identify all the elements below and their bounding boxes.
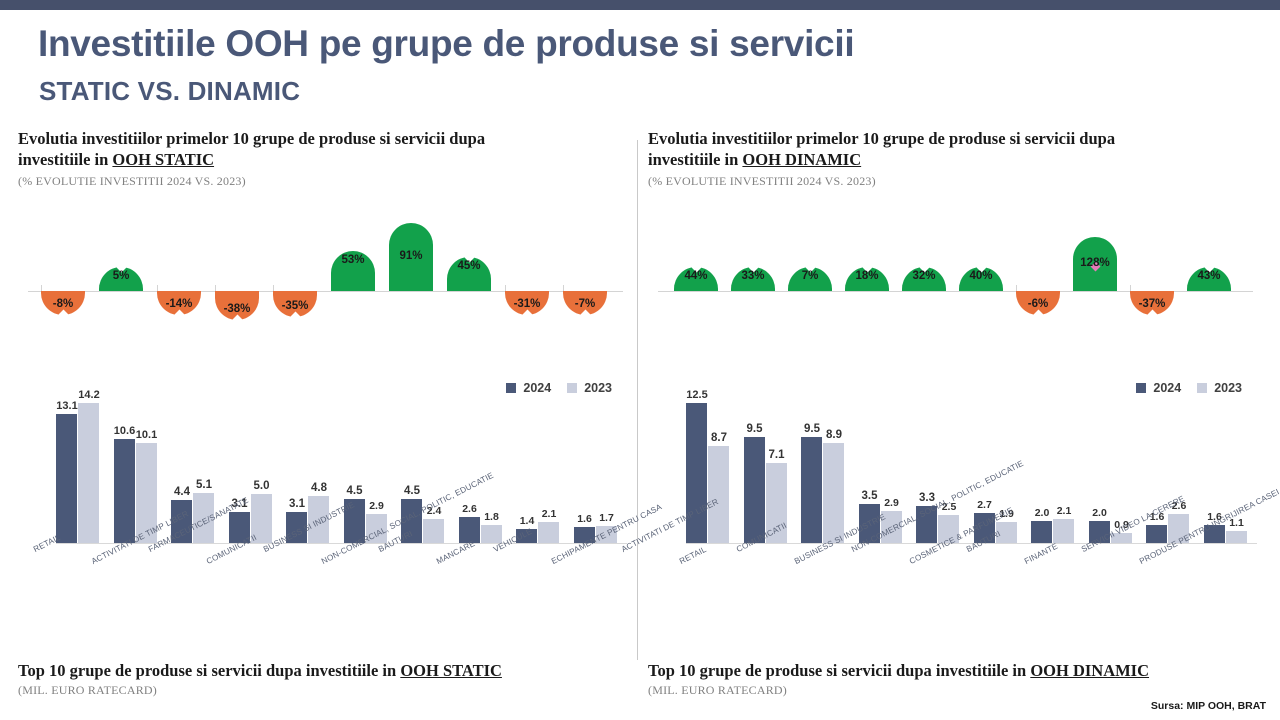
- legend-swatch-2023: [567, 383, 577, 393]
- bar-2023: [708, 446, 729, 543]
- bar-2023: [1226, 531, 1247, 543]
- legend-label-2024: 2024: [523, 381, 551, 395]
- gauge-value-label: -7%: [563, 298, 607, 310]
- bar-value-label: 10.1: [132, 429, 162, 441]
- panel-dinamic-heading-line2-prefix: investitiile in: [648, 150, 742, 169]
- bar-group: 3.32.5: [916, 403, 959, 543]
- bar-value-label: 5.1: [189, 479, 219, 491]
- bar-2024: [1031, 521, 1052, 543]
- gauge-value-label: -8%: [41, 298, 85, 310]
- static-evolution-gauge-chart: -8%5%-14%-38%-35%53%91%45%-31%-7%: [18, 206, 633, 341]
- bar-2024: [686, 403, 707, 543]
- bar-group: 1.42.1: [516, 403, 559, 543]
- gauge-value-label: 18%: [845, 270, 889, 282]
- panel-static-footer-prefix: Top 10 grupe de produse si servicii dupa…: [18, 661, 400, 680]
- bar-2024: [56, 414, 77, 543]
- dinamic-evolution-gauge-chart: 44%33%7%18%32%40%-6%128%-37%43%: [648, 206, 1263, 341]
- gauge-value-label: -38%: [215, 303, 259, 315]
- panel-static-footer-units: (MIL. EURO RATECARD): [18, 683, 638, 698]
- bar-2023: [538, 522, 559, 543]
- bar-group: 3.15.0: [229, 403, 272, 543]
- panel-static-heading: Evolutia investitiilor primelor 10 grupe…: [18, 128, 618, 170]
- dinamic-category-labels: ACTIVITATI DE TIMP LIBERRETAILCOMUNICATI…: [648, 544, 1263, 616]
- bar-value-label: 2.9: [877, 497, 907, 509]
- page-subtitle: STATIC VS. DINAMIC: [39, 76, 839, 106]
- bar-group: 2.02.1: [1031, 403, 1074, 543]
- gauge-value-label: -37%: [1130, 298, 1174, 310]
- bar-value-label: 7.1: [762, 449, 792, 461]
- legend-static: 2024 2023: [506, 381, 621, 395]
- bar-group: 1.62.6: [1146, 403, 1189, 543]
- gauge-value-label: 33%: [731, 270, 775, 282]
- panel-dinamic-footer-title: Top 10 grupe de produse si servicii dupa…: [648, 661, 1268, 681]
- bar-value-label: 4.5: [397, 485, 427, 497]
- legend-label-2024: 2024: [1153, 381, 1181, 395]
- panel-dinamic-footer-units: (MIL. EURO RATECARD): [648, 683, 1268, 698]
- bar-value-label: 1.8: [477, 511, 507, 523]
- bar-2023: [78, 403, 99, 543]
- panel-static-footer: Top 10 grupe de produse si servicii dupa…: [18, 661, 638, 698]
- panel-dinamic: Evolutia investitiilor primelor 10 grupe…: [648, 128, 1263, 708]
- panel-static-subheading: (% EVOLUTIE INVESTITII 2024 VS. 2023): [18, 174, 633, 189]
- panel-static-heading-line1: Evolutia investitiilor primelor 10 grupe…: [18, 129, 485, 148]
- panel-dinamic-footer-emphasis: OOH DINAMIC: [1030, 661, 1149, 680]
- bar-group: 4.52.9: [344, 403, 387, 543]
- top-accent-bar: [0, 0, 1280, 10]
- category-label: FINANTE: [1023, 542, 1059, 566]
- panel-static-heading-emphasis: OOH STATIC: [112, 150, 214, 169]
- gauge-value-label: 32%: [902, 270, 946, 282]
- static-category-labels: RETAILACTIVITATI DE TIMP LIBERFARMACEUTI…: [18, 544, 633, 616]
- panel-dinamic-footer-prefix: Top 10 grupe de produse si servicii dupa…: [648, 661, 1030, 680]
- bar-value-label: 9.5: [740, 423, 770, 435]
- source-note: Sursa: MIP OOH, BRAT: [1151, 700, 1266, 712]
- gauge-value-label: 7%: [788, 270, 832, 282]
- gauge-value-label: 128%: [1073, 257, 1117, 269]
- bar-value-label: 8.9: [819, 429, 849, 441]
- legend-label-2023: 2023: [584, 381, 612, 395]
- bar-group: 9.58.9: [801, 403, 844, 543]
- bar-value-label: 14.2: [74, 389, 104, 401]
- bar-group: 13.114.2: [56, 403, 99, 543]
- bar-2023: [1053, 519, 1074, 543]
- bar-group: 1.61.7: [574, 403, 617, 543]
- legend-swatch-2023: [1197, 383, 1207, 393]
- gauge-value-label: -6%: [1016, 298, 1060, 310]
- gauge-value-label: -31%: [505, 298, 549, 310]
- panel-divider: [637, 140, 638, 660]
- bar-2023: [423, 519, 444, 543]
- panel-dinamic-subheading: (% EVOLUTIE INVESTITII 2024 VS. 2023): [648, 174, 1263, 189]
- legend-swatch-2024: [1136, 383, 1146, 393]
- bar-value-label: 2.0: [1085, 507, 1115, 519]
- page-title: Investitiile OOH pe grupe de produse si …: [38, 22, 1138, 66]
- bar-value-label: 12.5: [682, 389, 712, 401]
- panel-static-footer-emphasis: OOH STATIC: [400, 661, 502, 680]
- bar-value-label: 5.0: [247, 480, 277, 492]
- panel-static: Evolutia investitiilor primelor 10 grupe…: [18, 128, 633, 708]
- legend-swatch-2024: [506, 383, 516, 393]
- bar-2024: [801, 437, 822, 543]
- gauge-value-label: 91%: [389, 250, 433, 262]
- bar-group: 2.61.8: [459, 403, 502, 543]
- bar-2024: [1146, 525, 1167, 543]
- panel-dinamic-heading: Evolutia investitiilor primelor 10 grupe…: [648, 128, 1248, 170]
- bar-value-label: 2.1: [534, 508, 564, 520]
- gauge-value-label: 53%: [331, 254, 375, 266]
- bar-value-label: 4.5: [340, 485, 370, 497]
- panel-dinamic-heading-line1: Evolutia investitiilor primelor 10 grupe…: [648, 129, 1115, 148]
- gauge-value-label: -35%: [273, 300, 317, 312]
- legend-dinamic: 2024 2023: [1136, 381, 1251, 395]
- gauge-value-label: 40%: [959, 270, 1003, 282]
- bar-value-label: 2.1: [1049, 505, 1079, 517]
- panel-static-heading-line2-prefix: investitiile in: [18, 150, 112, 169]
- gauge-value-label: 5%: [99, 270, 143, 282]
- gauge-value-label: 44%: [674, 270, 718, 282]
- gauge-value-label: 45%: [447, 260, 491, 272]
- panel-static-footer-title: Top 10 grupe de produse si servicii dupa…: [18, 661, 638, 681]
- legend-label-2023: 2023: [1214, 381, 1242, 395]
- bar-value-label: 4.8: [304, 482, 334, 494]
- bar-group: 10.610.1: [114, 403, 157, 543]
- panel-dinamic-heading-emphasis: OOH DINAMIC: [742, 150, 861, 169]
- bar-2023: [823, 443, 844, 543]
- bar-value-label: 2.9: [362, 500, 392, 512]
- gauge-value-label: -14%: [157, 298, 201, 310]
- gauge-value-label: 43%: [1187, 270, 1231, 282]
- dinamic-top10-bar-chart: 2024 2023 12.58.79.57.19.58.93.52.93.32.…: [648, 359, 1263, 544]
- bar-2023: [481, 525, 502, 543]
- bar-group: 12.58.7: [686, 403, 729, 543]
- bar-2024: [114, 439, 135, 544]
- bar-value-label: 8.7: [704, 432, 734, 444]
- panel-dinamic-footer: Top 10 grupe de produse si servicii dupa…: [648, 661, 1268, 698]
- category-label: RETAIL: [678, 545, 708, 566]
